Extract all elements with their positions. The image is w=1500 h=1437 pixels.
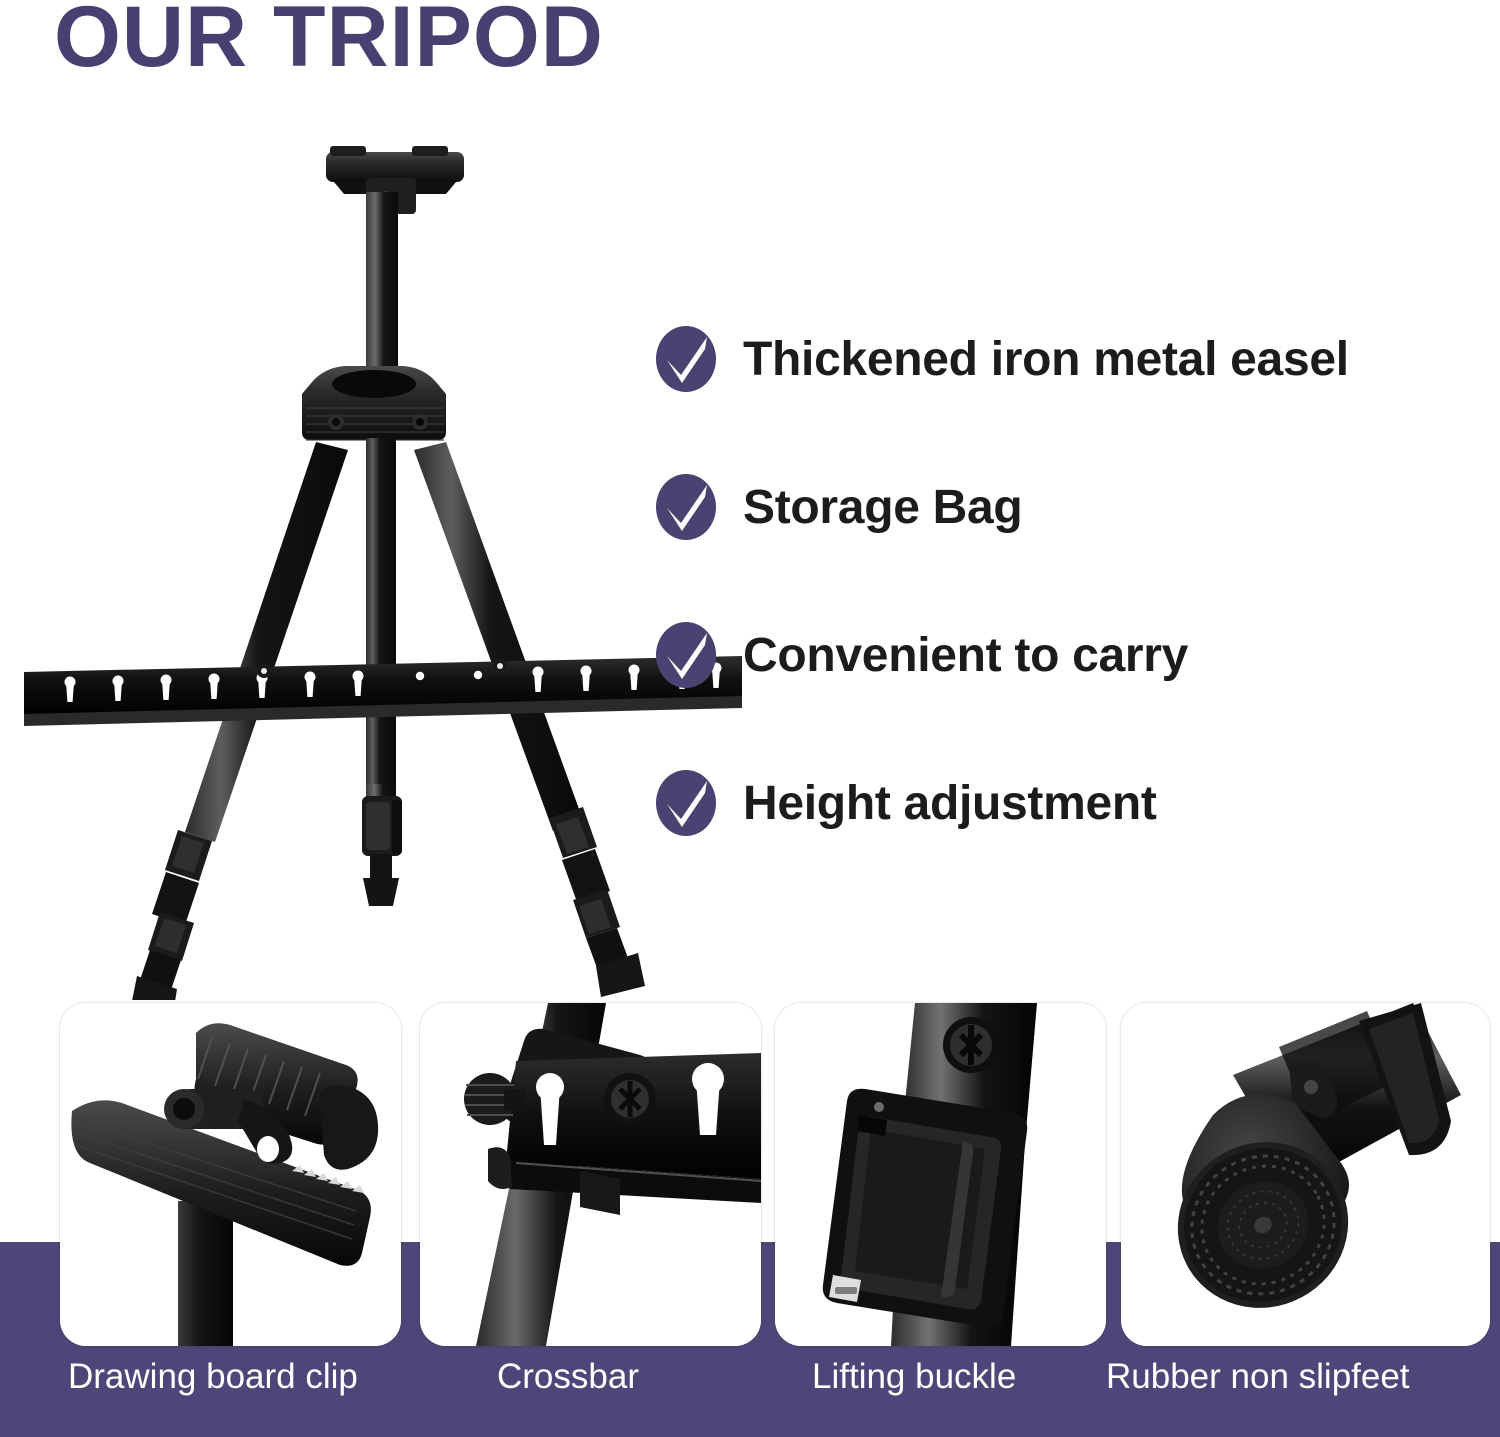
page-title: OUR TRIPOD	[54, 0, 604, 82]
card-caption-rubber-non-slip-feet: Rubber non slipfeet	[1106, 1357, 1410, 1397]
feature-label: Height adjustment	[743, 776, 1157, 831]
detail-card-drawing-board-clip	[60, 1003, 401, 1346]
lifting-buckle-part	[362, 796, 402, 856]
card-caption-crossbar: Crossbar	[497, 1357, 639, 1397]
check-circle-icon	[655, 621, 717, 689]
check-circle-icon	[655, 473, 717, 541]
center-hub-part	[302, 366, 446, 440]
card-caption-lifting-buckle: Lifting buckle	[812, 1357, 1016, 1397]
feature-item: Storage Bag	[655, 433, 1485, 581]
right-leg	[414, 442, 645, 997]
card-caption-drawing-board-clip: Drawing board clip	[68, 1357, 358, 1397]
feature-label: Thickened iron metal easel	[743, 332, 1349, 387]
rubber-foot	[363, 878, 399, 906]
flip-lock-buckle	[823, 1089, 1027, 1328]
detail-card-lifting-buckle	[775, 1003, 1106, 1346]
detail-card-rubber-non-slip-feet	[1121, 1003, 1490, 1346]
feature-item: Thickened iron metal easel	[655, 285, 1485, 433]
mast-tube	[178, 1201, 233, 1346]
detail-card-crossbar	[420, 1003, 761, 1346]
mast-tube-upper	[366, 192, 398, 392]
feature-label: Storage Bag	[743, 480, 1022, 535]
feature-label: Convenient to carry	[743, 628, 1188, 683]
feature-item: Convenient to carry	[655, 581, 1485, 729]
check-circle-icon	[655, 325, 717, 393]
feature-list: Thickened iron metal easel Storage Bag C…	[655, 285, 1485, 877]
check-circle-icon	[655, 769, 717, 837]
feature-item: Height adjustment	[655, 729, 1485, 877]
crossbar-part	[24, 656, 742, 726]
product-infographic: OUR TRIPOD	[0, 0, 1500, 1437]
tripod-easel-photo	[0, 120, 760, 1000]
